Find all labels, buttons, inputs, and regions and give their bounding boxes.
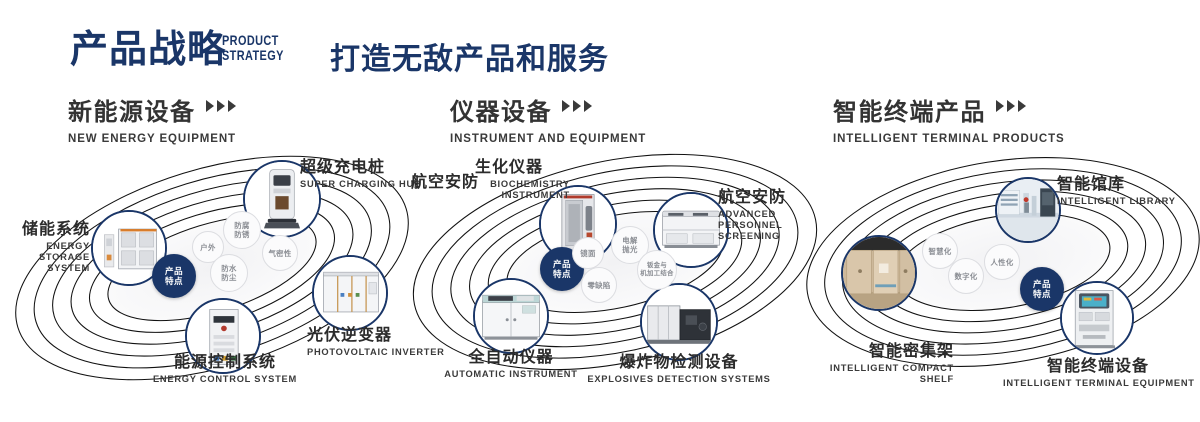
automatic-instrument-photo: [475, 280, 547, 352]
feature-line1: 防水: [221, 264, 236, 273]
product-label-intelligent-library: 智能馆库 INTELLIGENT LIBRARY: [1057, 175, 1176, 207]
product-label-en: INTELLIGENT TERMINAL EQUIPMENT: [1003, 378, 1193, 389]
feature-line1: 零缺陷: [587, 281, 610, 290]
product-label-en: INTELLIGENT LIBRARY: [1057, 196, 1176, 207]
compact-shelf-photo: [843, 237, 915, 309]
feature-bubble-anticorrosion: 防腐 防锈: [223, 211, 261, 249]
feature-bubble-mirror-finish: 镜面: [572, 237, 604, 269]
section-heading-new-energy-en: NEW ENERGY EQUIPMENT: [68, 133, 239, 145]
center-badge-line2: 特点: [553, 269, 571, 279]
feature-line1: 户外: [200, 243, 215, 252]
product-label-biochemistry-instrument: 生化仪器 BIOCHEMISTRY INSTRUMENT: [475, 158, 570, 201]
section-heading-terminal-en: INTELLIGENT TERMINAL PRODUCTS: [833, 133, 1065, 145]
chevron-right-icon: [562, 99, 595, 117]
feature-bubble-airtightness: 气密性: [262, 235, 298, 271]
cluster-new-energy-equipment: 储能系统 ENERGY STORAGE SYSTEM 超级充电桩 SUPER C…: [0, 150, 420, 400]
inverter-cabinet-photo: [314, 257, 386, 329]
feature-line1: 电解: [622, 236, 637, 245]
product-label-en: ENERGY CONTROL SYSTEM: [125, 374, 325, 385]
product-label-explosives-detection: 爆炸物检测设备 EXPLOSIVES DETECTION SYSTEMS: [579, 353, 779, 385]
product-label-cn: 能源控制系统: [125, 353, 325, 372]
feature-line2: 抛光: [622, 245, 637, 254]
feature-bubble-humanized: 人性化: [984, 244, 1020, 280]
product-circle-automatic-instrument[interactable]: [473, 278, 549, 354]
center-badge-line1: 产品: [165, 266, 183, 276]
product-label-cn: 生化仪器: [475, 158, 570, 177]
center-badge-line1: 产品: [1033, 279, 1051, 289]
product-label-compact-shelf: 智能密集架 INTELLIGENT COMPACT SHELF: [802, 342, 954, 385]
product-label-cn: 航空安防: [718, 188, 813, 207]
center-badge-line2: 特点: [1033, 289, 1051, 299]
feature-bubble-waterproof: 防水 防尘: [210, 254, 248, 292]
center-badge-line1: 产品: [553, 259, 571, 269]
explosives-detector-photo: [642, 285, 716, 359]
feature-line1: 钣金与: [640, 262, 673, 270]
product-label-en: INTELLIGENT COMPACT SHELF: [802, 363, 954, 385]
section-heading-instrument: 仪器设备 INSTRUMENT AND EQUIPMENT: [450, 92, 646, 145]
cluster-instrument-and-equipment: 航空安防 生化仪器 BIOCHEMISTRY INSTRUMENT: [400, 150, 820, 400]
feature-bubble-sheet-metal-machining: 钣金与 机加工结合: [637, 250, 677, 290]
product-label-cn: 爆炸物检测设备: [579, 353, 779, 372]
product-label-energy-storage-system: 储能系统 ENERGY STORAGE SYSTEM: [0, 220, 90, 274]
product-label-en: EXPLOSIVES DETECTION SYSTEMS: [579, 374, 779, 385]
page-title-english: PRODUCT STRATEGY: [222, 33, 284, 63]
page-subtitle: 打造无敌产品和服务: [330, 34, 609, 78]
product-circle-terminal-equipment[interactable]: [1060, 281, 1134, 355]
center-badge-product-features: 产品 特点: [152, 254, 196, 298]
page-title-english-line1: PRODUCT: [222, 33, 284, 48]
product-circle-explosives-detection[interactable]: [640, 283, 718, 361]
section-heading-terminal: 智能终端产品 INTELLIGENT TERMINAL PRODUCTS: [833, 92, 1065, 145]
product-circle-photovoltaic-inverter[interactable]: [312, 255, 388, 331]
product-label-terminal-equipment: 智能终端设备 INTELLIGENT TERMINAL EQUIPMENT: [1003, 357, 1193, 389]
feature-line1: 气密性: [268, 249, 291, 258]
product-label-aviation-security-left: 航空安防: [411, 173, 479, 192]
product-label-en: ADVANCED PERSONNEL SCREENING: [718, 209, 813, 242]
feature-bubble-zero-defect: 零缺陷: [581, 267, 617, 303]
page-header: 产品战略 PRODUCT STRATEGY 打造无敌产品和服务: [0, 0, 1200, 90]
product-label-cn: 智能终端设备: [1003, 357, 1193, 376]
section-heading-instrument-cn: 仪器设备: [450, 92, 552, 127]
feature-line1: 镜面: [580, 249, 595, 258]
center-badge-line2: 特点: [165, 276, 183, 286]
product-label-cn: 储能系统: [0, 220, 90, 239]
infographic-page: 产品战略 PRODUCT STRATEGY 打造无敌产品和服务 新能源设备 NE…: [0, 0, 1200, 422]
library-photo: [997, 179, 1059, 241]
feature-line1: 防腐: [234, 221, 249, 230]
product-label-personnel-screening: 航空安防 ADVANCED PERSONNEL SCREENING: [718, 188, 813, 242]
page-title-english-line2: STRATEGY: [222, 48, 284, 63]
product-label-cn: 航空安防: [411, 173, 479, 192]
feature-line2: 机加工结合: [640, 270, 673, 278]
product-label-en: BIOCHEMISTRY INSTRUMENT: [475, 179, 570, 201]
product-label-cn: 智能密集架: [802, 342, 954, 361]
cluster-intelligent-terminal-products: 智能馆库 INTELLIGENT LIBRARY 智能密集架 INTELLIGE…: [805, 150, 1200, 400]
feature-line2: 防锈: [234, 230, 249, 239]
section-heading-terminal-cn: 智能终端产品: [833, 92, 986, 127]
product-label-en: ENERGY STORAGE SYSTEM: [0, 241, 90, 274]
product-circle-intelligent-library[interactable]: [995, 177, 1061, 243]
section-heading-new-energy: 新能源设备 NEW ENERGY EQUIPMENT: [68, 92, 239, 145]
feature-line1: 数字化: [954, 272, 977, 281]
chevron-right-icon: [996, 99, 1029, 117]
center-badge-product-features: 产品 特点: [1020, 267, 1064, 311]
page-title: 产品战略: [70, 28, 226, 72]
feature-line2: 防尘: [221, 273, 236, 282]
product-label-energy-control-system: 能源控制系统 ENERGY CONTROL SYSTEM: [125, 353, 325, 385]
product-label-cn: 智能馆库: [1057, 175, 1176, 194]
feature-bubble-digitalized: 数字化: [948, 258, 984, 294]
chevron-right-icon: [206, 99, 239, 117]
feature-line1: 人性化: [990, 258, 1013, 267]
section-heading-new-energy-cn: 新能源设备: [68, 92, 196, 127]
product-circle-compact-shelf[interactable]: [841, 235, 917, 311]
section-heading-instrument-en: INSTRUMENT AND EQUIPMENT: [450, 133, 646, 145]
feature-line1: 智慧化: [928, 247, 951, 256]
terminal-kiosk-photo: [1062, 283, 1132, 353]
